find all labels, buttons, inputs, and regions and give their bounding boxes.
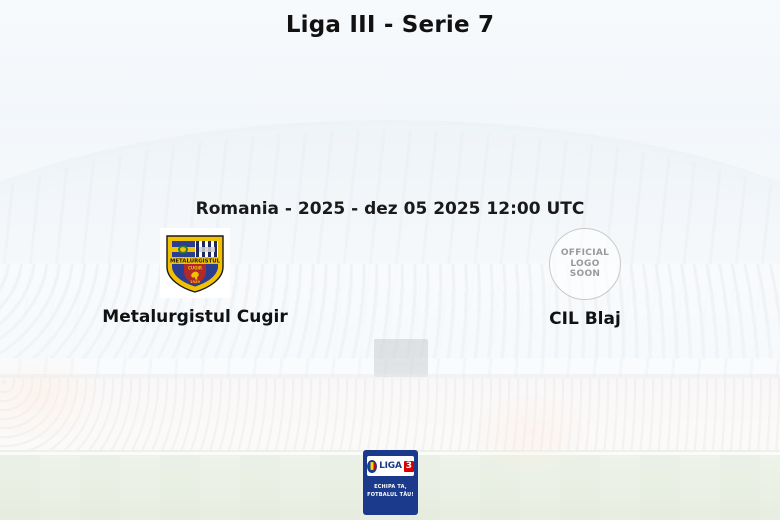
match-preview-card: Liga III - Serie 7 Romania - 2025 - dez … (0, 0, 780, 520)
away-team-logo-placeholder-icon: OFFICIAL LOGO SOON (549, 228, 621, 300)
league-tagline-line-2: FOTBALUL TĂU! (367, 492, 414, 500)
league-badge-word: LIGA (379, 461, 402, 471)
placeholder-line-1: OFFICIAL (561, 248, 609, 259)
page-title: Liga III - Serie 7 (0, 12, 780, 38)
match-meta-line: Romania - 2025 - dez 05 2025 12:00 UTC (0, 199, 780, 219)
league-badge: LIGA 3 ECHIPA TA, FOTBALUL TĂU! (363, 450, 418, 515)
league-tagline-line-1: ECHIPA TA, (367, 484, 414, 492)
crest-text-mid: CUGIR (188, 265, 202, 270)
league-badge-number: 3 (404, 461, 414, 472)
away-team[interactable]: OFFICIAL LOGO SOON CIL Blaj (390, 228, 780, 329)
home-team-crest-icon: METALURGISTUL CUGIR 1929 (160, 228, 230, 298)
league-tagline: ECHIPA TA, FOTBALUL TĂU! (367, 484, 414, 500)
federation-crest-inner (368, 462, 376, 470)
federation-crest-icon (367, 460, 377, 473)
league-plate: LIGA 3 (367, 456, 414, 476)
placeholder-line-2: LOGO (570, 259, 599, 270)
teams-row: METALURGISTUL CUGIR 1929 Metalurgistul C… (0, 228, 780, 329)
away-team-name: CIL Blaj (549, 309, 621, 329)
home-team-name: Metalurgistul Cugir (102, 307, 287, 327)
crest-text-top: METALURGISTUL (170, 259, 221, 265)
placeholder-line-3: SOON (570, 269, 601, 280)
crest-text-bottom: 1929 (190, 280, 201, 284)
home-team[interactable]: METALURGISTUL CUGIR 1929 Metalurgistul C… (0, 228, 390, 329)
